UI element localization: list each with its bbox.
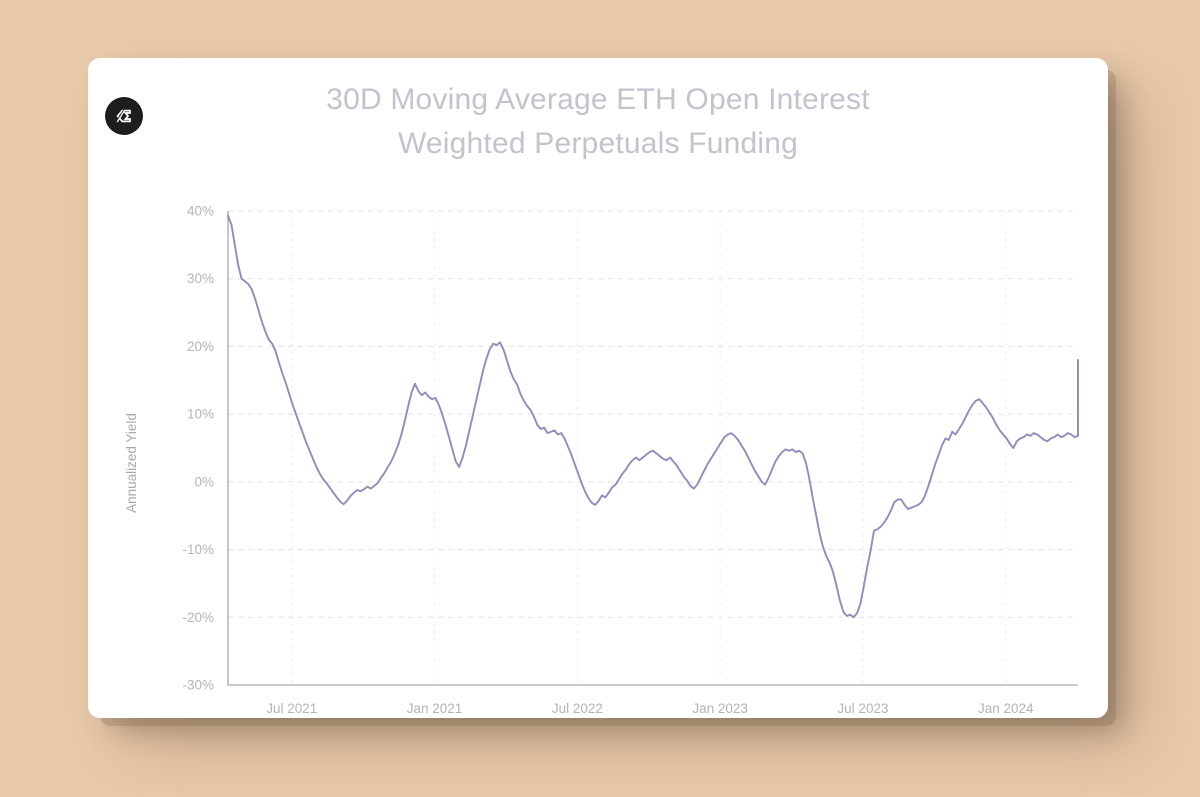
x-tick-label: Jan 2023 <box>692 701 748 716</box>
y-tick-label: -10% <box>182 542 214 557</box>
y-tick-label: 10% <box>187 407 214 422</box>
y-axis-title: Annualized Yield <box>124 413 139 513</box>
y-axis-tick-labels: 40%30%20%10%0%-10%-20%-30% <box>182 204 214 693</box>
x-tick-label: Jul 2022 <box>552 701 603 716</box>
y-tick-label: 20% <box>187 339 214 354</box>
x-axis-tick-labels: Jul 2021Jan 2021Jul 2022Jan 2023Jul 2023… <box>266 701 1034 716</box>
y-tick-label: 0% <box>194 474 214 489</box>
vertical-gridlines <box>292 211 1006 685</box>
plot-area: 40%30%20%10%0%-10%-20%-30% Jul 2021Jan 2… <box>88 58 1108 718</box>
y-tick-label: -30% <box>182 678 214 693</box>
y-tick-label: -20% <box>182 610 214 625</box>
horizontal-gridlines <box>228 211 1078 685</box>
x-tick-label: Jan 2021 <box>407 701 463 716</box>
chart-card: 30D Moving Average ETH Open Interest Wei… <box>88 58 1108 718</box>
y-tick-label: 30% <box>187 271 214 286</box>
x-tick-label: Jul 2021 <box>266 701 317 716</box>
y-tick-label: 40% <box>187 204 214 219</box>
x-tick-label: Jan 2024 <box>978 701 1034 716</box>
data-series-line <box>228 216 1078 618</box>
axis-lines <box>228 211 1078 685</box>
x-tick-label: Jul 2023 <box>837 701 888 716</box>
